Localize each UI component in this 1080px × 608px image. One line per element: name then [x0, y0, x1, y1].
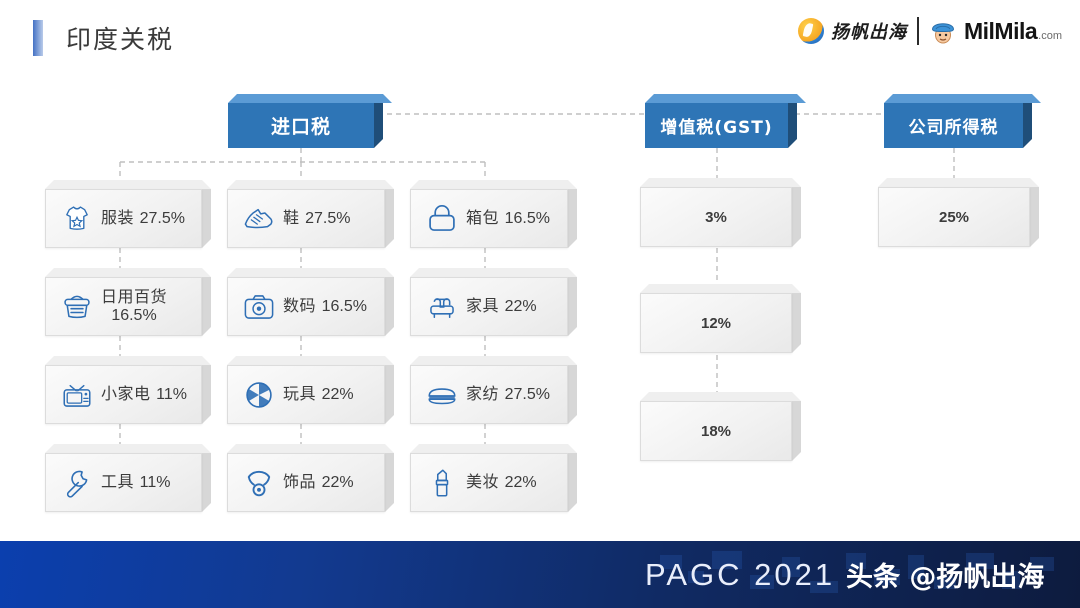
- category-label: 家具 22%: [466, 297, 537, 316]
- box-top-face: [227, 356, 394, 365]
- box-side-face: [568, 453, 577, 512]
- box-side-face: [385, 365, 394, 424]
- title-accent-bar: [33, 20, 43, 56]
- rate-box[interactable]: 25%: [878, 178, 1039, 247]
- category-rate: 27.5%: [505, 386, 550, 403]
- corporate-tax-label: 公司所得税: [884, 103, 1023, 148]
- rate-box-face: 25%: [878, 187, 1030, 247]
- shoe-icon: [242, 202, 276, 236]
- rate-box[interactable]: 18%: [640, 392, 801, 461]
- box-top-face: [410, 180, 577, 189]
- yangfan-mark-icon: [798, 18, 824, 44]
- category-card[interactable]: 美妆 22%: [410, 444, 577, 512]
- page-header: 印度关税 扬帆出海 MilMila .com: [0, 0, 1080, 72]
- category-card[interactable]: 玩具 22%: [227, 356, 394, 424]
- category-rate: 16.5%: [322, 298, 367, 315]
- tv-icon: [60, 378, 94, 412]
- import-duty-header-box[interactable]: 进口税: [228, 94, 383, 148]
- box-side-face: [202, 277, 211, 336]
- yangfan-logo-text: 扬帆出海: [831, 18, 907, 44]
- watermark-text: 头条 @扬帆出海: [846, 555, 1044, 594]
- logo-divider: [917, 17, 919, 45]
- category-rate: 11%: [140, 474, 171, 491]
- logo-group: 扬帆出海 MilMila .com: [798, 17, 1062, 45]
- rate-value: 3%: [641, 209, 791, 226]
- category-name: 饰品: [283, 472, 316, 491]
- milmila-logo-text: MilMila: [964, 18, 1037, 45]
- box-side-face: [568, 189, 577, 248]
- box-side-face: [374, 103, 383, 148]
- box-top-face: [227, 444, 394, 453]
- category-label: 小家电 11%: [101, 385, 187, 404]
- box-top-face: [410, 268, 577, 277]
- box-top-face: [878, 178, 1039, 187]
- category-rate: 27.5%: [140, 210, 185, 227]
- category-name: 日用百货: [101, 287, 167, 306]
- category-card[interactable]: 服装 27.5%: [45, 180, 211, 248]
- category-rate: 22%: [505, 474, 537, 491]
- category-name: 数码: [283, 296, 316, 315]
- category-rate: 11%: [156, 386, 187, 403]
- box-side-face: [1023, 103, 1032, 148]
- tax-diagram: 进口税 增值税(GST) 公司所得税 服装 27.5%日用百货16.5%小家电 …: [0, 72, 1080, 538]
- box-side-face: [792, 187, 801, 247]
- card-face: 服装 27.5%: [45, 189, 202, 248]
- category-label: 服装 27.5%: [101, 209, 185, 228]
- page-title: 印度关税: [66, 20, 174, 56]
- card-face: 鞋 27.5%: [227, 189, 385, 248]
- category-rate: 16.5%: [111, 307, 156, 324]
- card-face: 家纺 27.5%: [410, 365, 568, 424]
- gst-header-box[interactable]: 增值税(GST): [645, 94, 797, 148]
- box-side-face: [202, 189, 211, 248]
- rate-value: 18%: [641, 423, 791, 440]
- wrench-icon: [60, 466, 94, 500]
- card-face: 日用百货16.5%: [45, 277, 202, 336]
- box-side-face: [1030, 187, 1039, 247]
- category-label: 数码 16.5%: [283, 297, 367, 316]
- import-duty-label: 进口税: [228, 103, 374, 148]
- category-name: 工具: [101, 472, 134, 491]
- category-name: 美妆: [466, 472, 499, 491]
- category-card[interactable]: 饰品 22%: [227, 444, 394, 512]
- box-side-face: [385, 189, 394, 248]
- category-rate: 16.5%: [505, 210, 550, 227]
- rate-box-face: 18%: [640, 401, 792, 461]
- category-card[interactable]: 箱包 16.5%: [410, 180, 577, 248]
- basket-icon: [60, 290, 94, 324]
- rate-box-face: 12%: [640, 293, 792, 353]
- lipstick-icon: [425, 466, 459, 500]
- category-label: 玩具 22%: [283, 385, 354, 404]
- rate-box[interactable]: 3%: [640, 178, 801, 247]
- necklace-icon: [242, 466, 276, 500]
- box-side-face: [385, 453, 394, 512]
- category-name: 小家电: [101, 384, 151, 403]
- box-top-face: [227, 268, 394, 277]
- armchair-icon: [425, 290, 459, 324]
- card-face: 饰品 22%: [227, 453, 385, 512]
- category-rate: 22%: [505, 298, 537, 315]
- tshirt-icon: [60, 202, 94, 236]
- category-rate: 22%: [322, 474, 354, 491]
- box-top-face: [410, 356, 577, 365]
- category-card[interactable]: 鞋 27.5%: [227, 180, 394, 248]
- category-card[interactable]: 小家电 11%: [45, 356, 211, 424]
- box-side-face: [202, 365, 211, 424]
- box-top-face: [228, 94, 392, 103]
- box-top-face: [884, 94, 1041, 103]
- card-face: 小家电 11%: [45, 365, 202, 424]
- box-side-face: [568, 365, 577, 424]
- box-top-face: [640, 284, 801, 293]
- box-side-face: [792, 401, 801, 461]
- category-card[interactable]: 日用百货16.5%: [45, 268, 211, 336]
- category-card[interactable]: 家纺 27.5%: [410, 356, 577, 424]
- category-name: 鞋: [283, 208, 300, 227]
- rate-value: 25%: [879, 209, 1029, 226]
- box-top-face: [45, 444, 211, 453]
- category-label: 家纺 27.5%: [466, 385, 550, 404]
- rate-box-face: 3%: [640, 187, 792, 247]
- event-name: PAGC 2021: [645, 557, 835, 593]
- card-face: 箱包 16.5%: [410, 189, 568, 248]
- category-label: 鞋 27.5%: [283, 209, 350, 228]
- camera-icon: [242, 290, 276, 324]
- box-top-face: [640, 392, 801, 401]
- box-side-face: [568, 277, 577, 336]
- box-side-face: [792, 293, 801, 353]
- box-side-face: [202, 453, 211, 512]
- box-side-face: [385, 277, 394, 336]
- gst-label: 增值税(GST): [645, 103, 788, 148]
- page-footer: PAGC 2021 头条 @扬帆出海: [0, 541, 1080, 608]
- yangfan-logo: 扬帆出海: [798, 18, 907, 44]
- milmila-logo: MilMila .com: [929, 18, 1062, 45]
- card-face: 美妆 22%: [410, 453, 568, 512]
- corporate-tax-header-box[interactable]: 公司所得税: [884, 94, 1032, 148]
- box-side-face: [788, 103, 797, 148]
- card-face: 玩具 22%: [227, 365, 385, 424]
- mattress-icon: [425, 378, 459, 412]
- category-label: 工具 11%: [101, 473, 170, 492]
- category-card[interactable]: 数码 16.5%: [227, 268, 394, 336]
- rate-box[interactable]: 12%: [640, 284, 801, 353]
- box-top-face: [640, 178, 801, 187]
- handbag-icon: [425, 202, 459, 236]
- category-label: 美妆 22%: [466, 473, 537, 492]
- box-top-face: [645, 94, 806, 103]
- category-name: 服装: [101, 208, 134, 227]
- pinwheel-icon: [242, 378, 276, 412]
- category-label: 日用百货16.5%: [101, 288, 167, 325]
- box-top-face: [410, 444, 577, 453]
- category-name: 箱包: [466, 208, 499, 227]
- category-label: 箱包 16.5%: [466, 209, 550, 228]
- box-top-face: [45, 356, 211, 365]
- category-label: 饰品 22%: [283, 473, 354, 492]
- rate-value: 12%: [641, 315, 791, 332]
- category-name: 玩具: [283, 384, 316, 403]
- category-name: 家纺: [466, 384, 499, 403]
- box-top-face: [227, 180, 394, 189]
- milmila-turban-face-icon: [929, 18, 957, 44]
- box-top-face: [45, 268, 211, 277]
- card-face: 数码 16.5%: [227, 277, 385, 336]
- milmila-logo-suffix: .com: [1038, 30, 1062, 45]
- category-rate: 27.5%: [305, 210, 350, 227]
- category-card[interactable]: 家具 22%: [410, 268, 577, 336]
- box-top-face: [45, 180, 211, 189]
- card-face: 家具 22%: [410, 277, 568, 336]
- category-rate: 22%: [322, 386, 354, 403]
- category-card[interactable]: 工具 11%: [45, 444, 211, 512]
- category-name: 家具: [466, 296, 499, 315]
- card-face: 工具 11%: [45, 453, 202, 512]
